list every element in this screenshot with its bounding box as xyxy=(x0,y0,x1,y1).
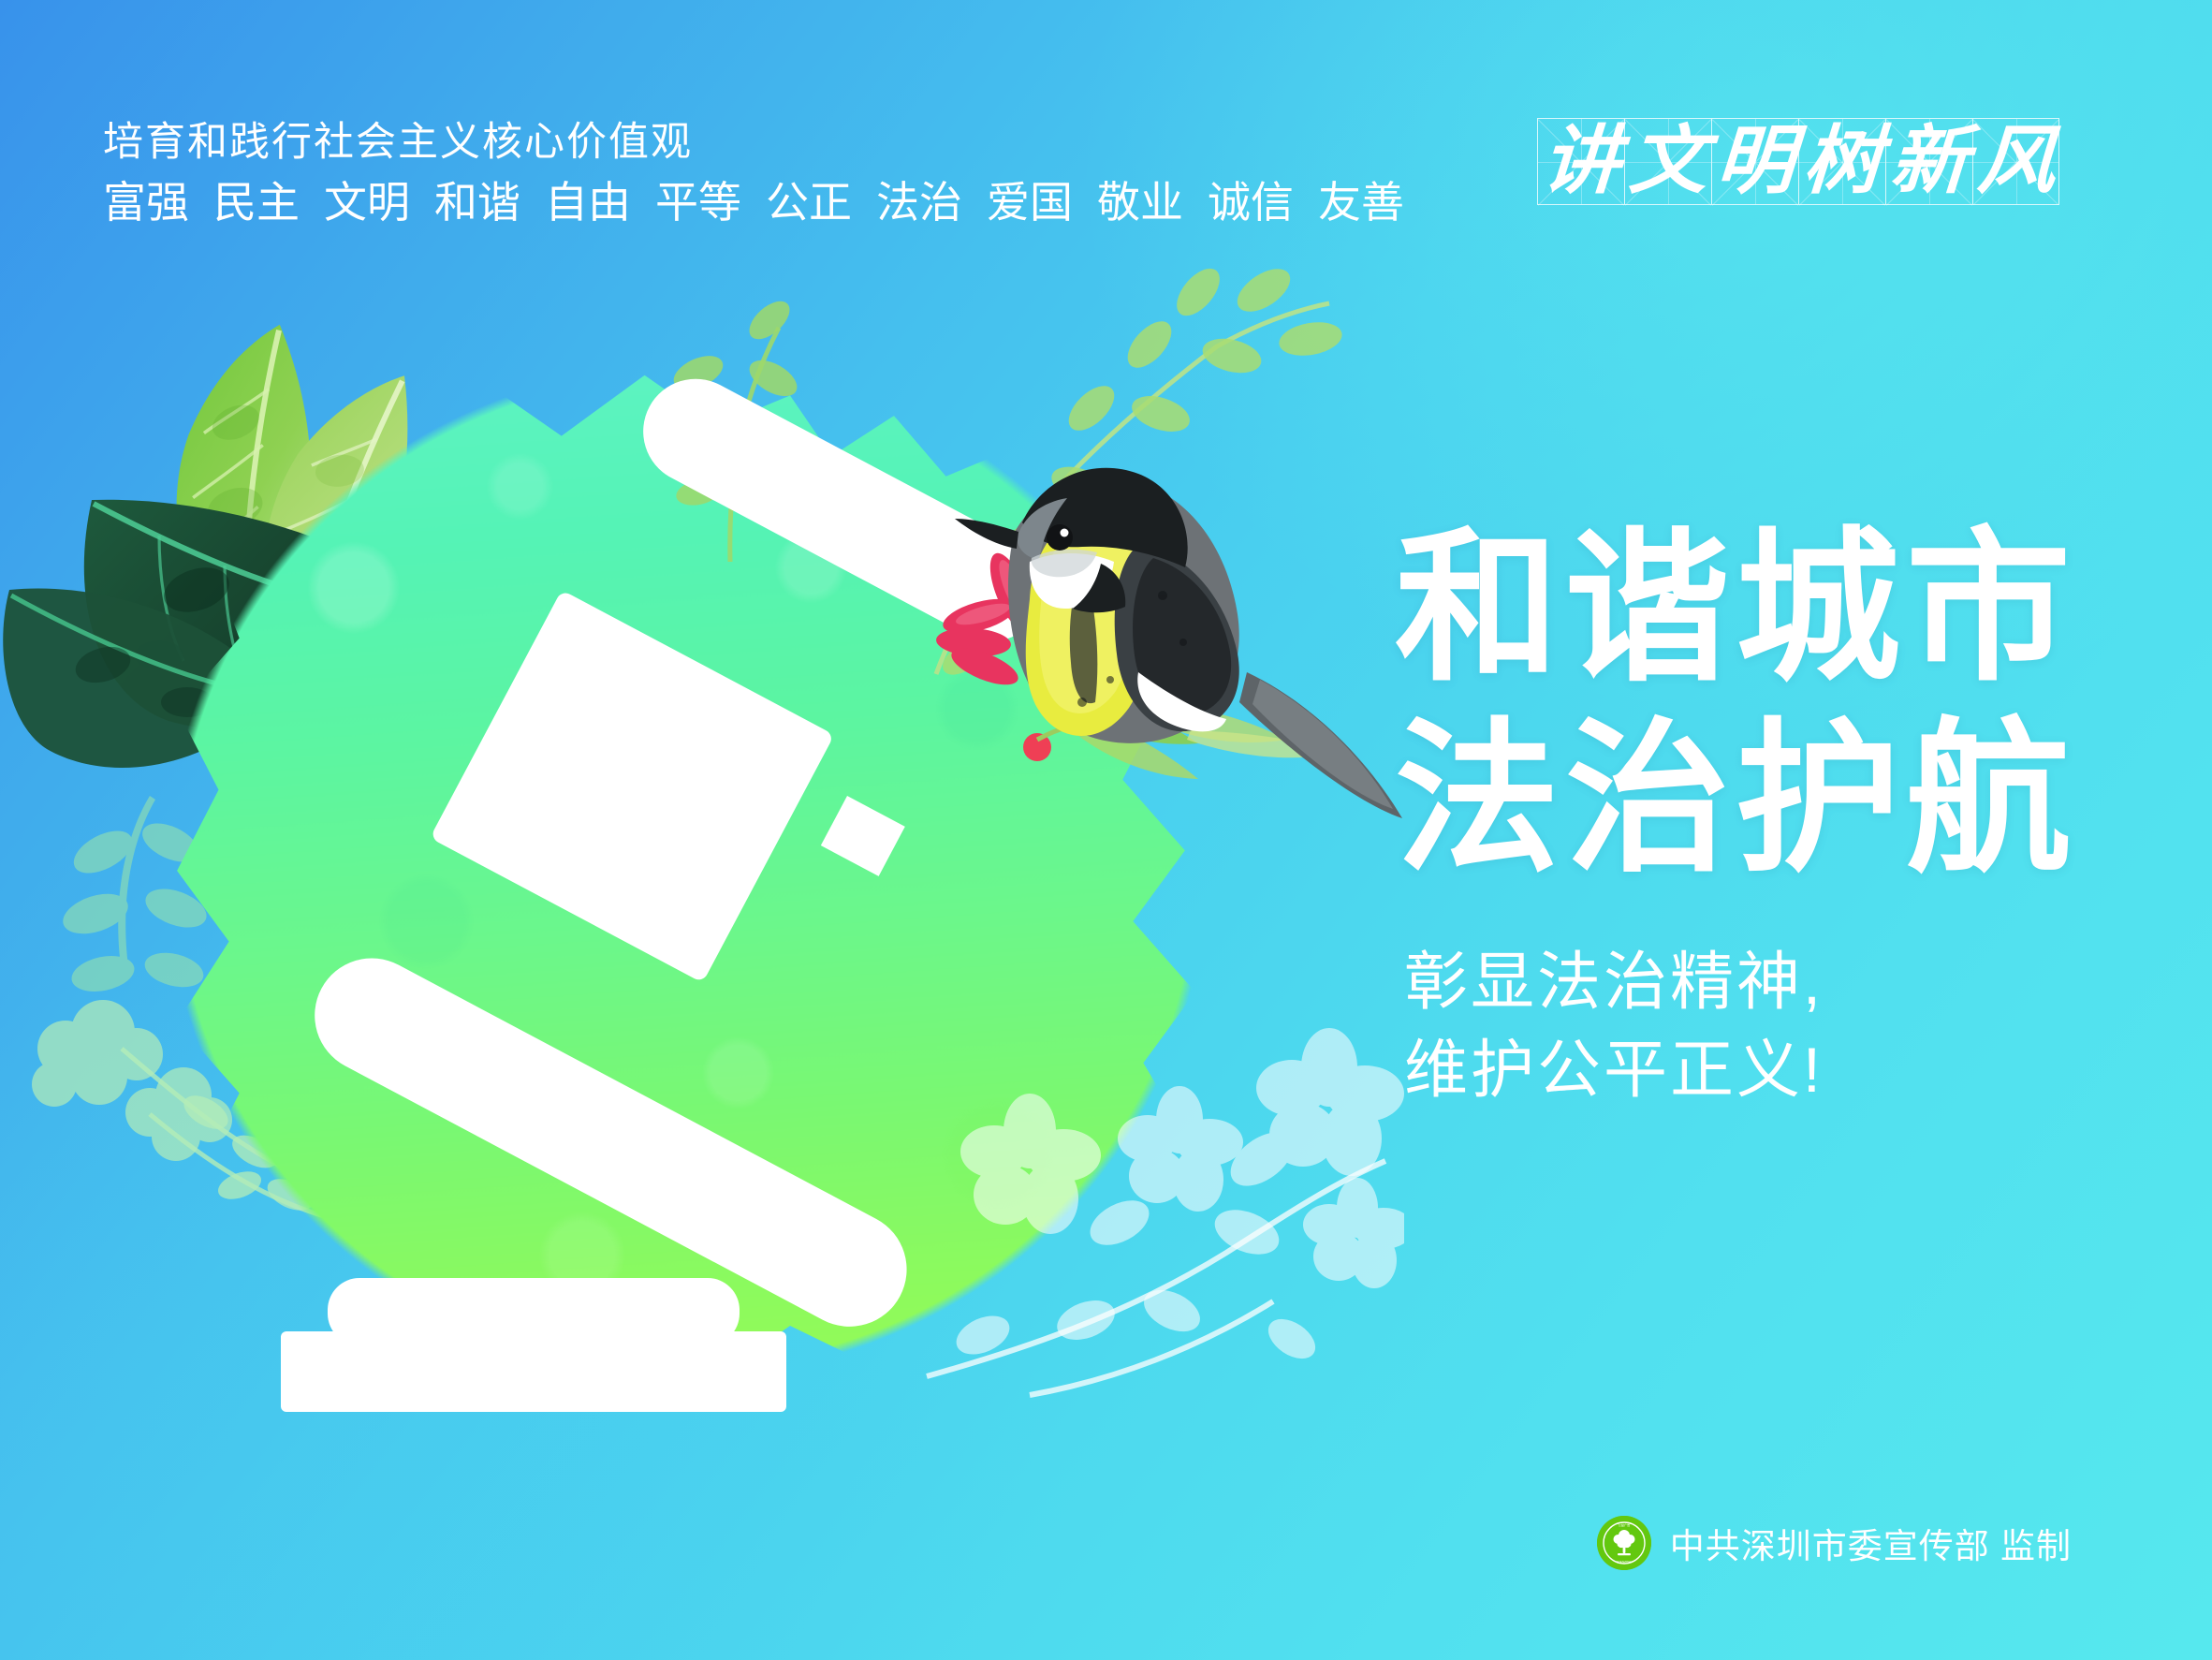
core-value-term: 公正 xyxy=(766,178,852,227)
campaign-logo-char: 讲 xyxy=(1540,125,1621,199)
svg-text:SHENZHEN: SHENZHEN xyxy=(1616,1560,1632,1564)
campaign-logo-cell: 文 xyxy=(1624,118,1711,205)
credit-text: 中共深圳市委宣传部 监制 xyxy=(1670,1518,2072,1568)
campaign-logo-cell: 明 xyxy=(1711,118,1798,205)
core-values-heading: 培育和践行社会主义核心价值观 xyxy=(103,116,1404,170)
campaign-logo-char: 文 xyxy=(1627,125,1708,199)
svg-text:公益广告: 公益广告 xyxy=(1619,1522,1630,1527)
campaign-logo-char: 风 xyxy=(1975,125,2057,199)
campaign-logo-char: 明 xyxy=(1714,125,1795,199)
core-value-term: 法治 xyxy=(876,178,962,227)
badge-tree-icon: 公益广告 SHENZHEN xyxy=(1597,1516,1651,1570)
campaign-logo-cell: 风 xyxy=(1972,118,2059,205)
poster-canvas: 培育和践行社会主义核心价值观 富强民主文明和谐自由平等公正法治爱国敬业诚信友善 … xyxy=(0,0,2212,1660)
artwork-stage xyxy=(0,309,1404,1517)
campaign-logo-cell: 讲 xyxy=(1537,118,1624,205)
campaign-logo-char: 树 xyxy=(1801,125,1882,199)
core-value-term: 诚信 xyxy=(1208,178,1294,227)
pale-flower-decor xyxy=(917,1002,1404,1414)
campaign-logo-char: 新 xyxy=(1888,125,1970,199)
campaign-logo-cell: 树 xyxy=(1798,118,1885,205)
credit-block: 公益广告 SHENZHEN 中共深圳市委宣传部 监制 xyxy=(1597,1516,2072,1570)
campaign-logo: 讲 文 明 树 新 风 xyxy=(1537,118,2059,205)
subtitle-line-1: 彰显法治精神, xyxy=(1404,939,1824,1027)
headline-line-1: 和谐城市 xyxy=(1395,513,2076,704)
headline-block: 和谐城市 法治护航 xyxy=(1395,513,2076,895)
core-value-term: 爱国 xyxy=(987,178,1073,227)
public-service-ad-badge-icon: 公益广告 SHENZHEN xyxy=(1597,1516,1651,1570)
core-value-term: 友善 xyxy=(1318,178,1404,227)
subtitle-line-2: 维护公平正义! xyxy=(1404,1027,1824,1115)
bird-illustration xyxy=(917,421,1404,824)
headline-line-2: 法治护航 xyxy=(1395,704,2076,895)
subtitle-block: 彰显法治精神, 维护公平正义! xyxy=(1404,939,1824,1115)
core-values-block: 培育和践行社会主义核心价值观 富强民主文明和谐自由平等公正法治爱国敬业诚信友善 xyxy=(103,116,1404,231)
core-value-term: 敬业 xyxy=(1097,178,1183,227)
core-value-term: 平等 xyxy=(655,178,741,227)
campaign-logo-cell: 新 xyxy=(1885,118,1972,205)
